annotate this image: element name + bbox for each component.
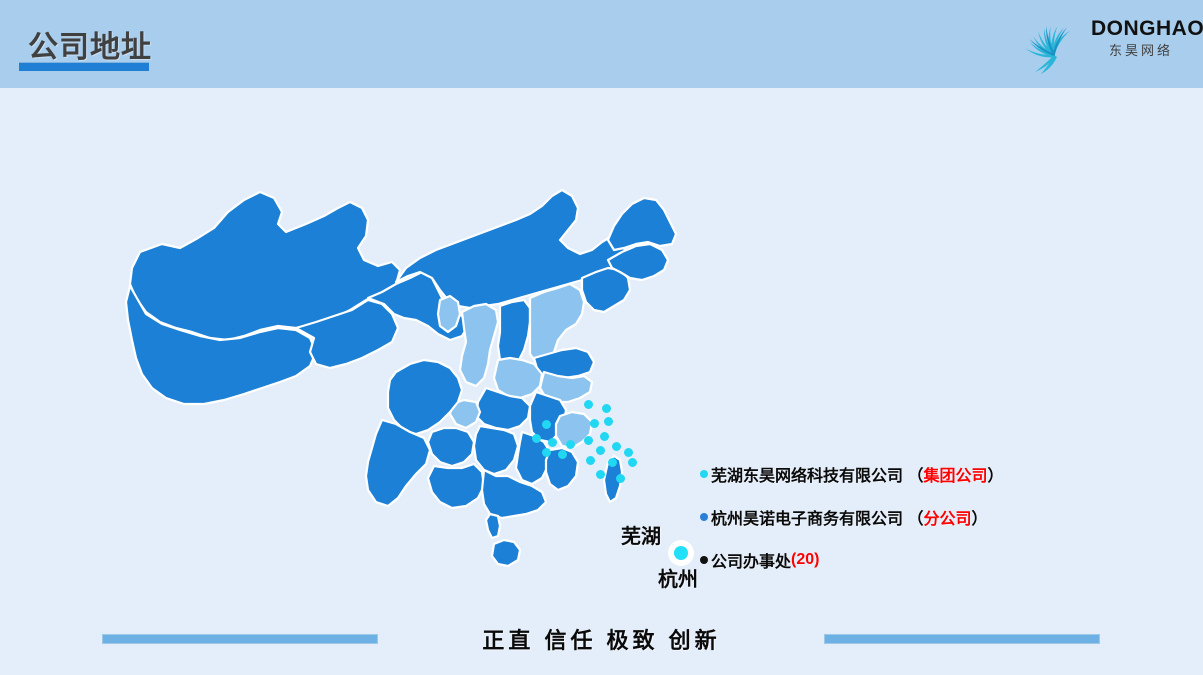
legend-item-headquarters[interactable]: 芜湖东昊网络科技有限公司 （ 集团公司 ） [700,462,1030,486]
legend-item-accent: 集团公司 [923,462,987,486]
office-marker-dot[interactable] [604,417,613,426]
map-label-hangzhou: 杭州 [658,563,698,592]
map-label-wuhu: 芜湖 [621,520,661,549]
office-marker-dot[interactable] [590,419,599,428]
province-guizhou [428,428,474,466]
legend-item-label: 芜湖东昊网络科技有限公司 [711,462,903,486]
province-hunan [474,426,518,474]
legend-item-label: 杭州昊诺电子商务有限公司 [711,505,903,529]
province-shaanxi [460,304,498,386]
office-marker-dot[interactable] [542,420,551,429]
legend-item-branch[interactable]: 杭州昊诺电子商务有限公司 （ 分公司 ） [700,505,1030,529]
headquarters-marker[interactable] [668,540,694,566]
legend-bullet-icon [700,513,708,521]
logo-company-subtitle: 东昊网络 [1091,44,1191,57]
office-marker-dot[interactable] [596,470,605,479]
legend-item-offices[interactable]: 公司办事处 (20) [700,548,1030,572]
office-marker-dot[interactable] [542,448,551,457]
footer-bar-right [824,634,1100,644]
office-marker-dot[interactable] [558,450,567,459]
province-sichuan [388,360,462,434]
office-marker-dot[interactable] [624,448,633,457]
office-marker-dot[interactable] [600,432,609,441]
legend-item-accent: 分公司 [923,505,971,529]
office-marker-dot[interactable] [602,404,611,413]
leizhou-peninsula [486,514,500,538]
page-title: 公司地址 [28,22,152,66]
office-marker-dot[interactable] [584,436,593,445]
feather-fan-logo-icon [1019,8,1091,74]
province-guangxi [428,464,484,508]
legend-item-label: 公司办事处 [711,548,791,572]
province-heilongjiang [608,198,676,250]
office-marker-dot[interactable] [586,456,595,465]
office-marker-dot[interactable] [596,446,605,455]
china-map[interactable]: 芜湖 杭州 [110,120,710,620]
office-marker-dot[interactable] [616,474,625,483]
province-ningxia [438,296,460,332]
office-marker-dot[interactable] [532,434,541,443]
province-hainan [492,540,520,566]
legend-item-accent: (20) [791,551,819,569]
office-marker-dot[interactable] [548,438,557,447]
china-map-svg [110,120,710,620]
logo-company-name: DONGHAO [1091,18,1191,39]
legend-close-paren: ） [972,505,988,529]
page-header: 公司地址 DONGHAO [0,0,1203,88]
headquarters-marker-core [674,546,688,560]
office-marker-dot[interactable] [584,400,593,409]
legend-open-paren: （ [907,462,923,486]
footer-bar-left [102,634,378,644]
map-legend: 芜湖东昊网络科技有限公司 （ 集团公司 ） 杭州昊诺电子商务有限公司 （ 分公司… [700,462,1030,591]
legend-close-paren: ） [988,462,1004,486]
title-underline-bar [19,62,149,71]
office-marker-dot[interactable] [612,442,621,451]
legend-bullet-icon [700,556,708,564]
office-marker-dot[interactable] [628,458,637,467]
legend-open-paren: （ [907,505,923,529]
province-shanxi [498,300,530,366]
office-marker-dot[interactable] [608,458,617,467]
company-logo: DONGHAO 东昊网络 [1019,6,1189,78]
legend-bullet-icon [700,470,708,478]
office-marker-dot[interactable] [566,440,575,449]
